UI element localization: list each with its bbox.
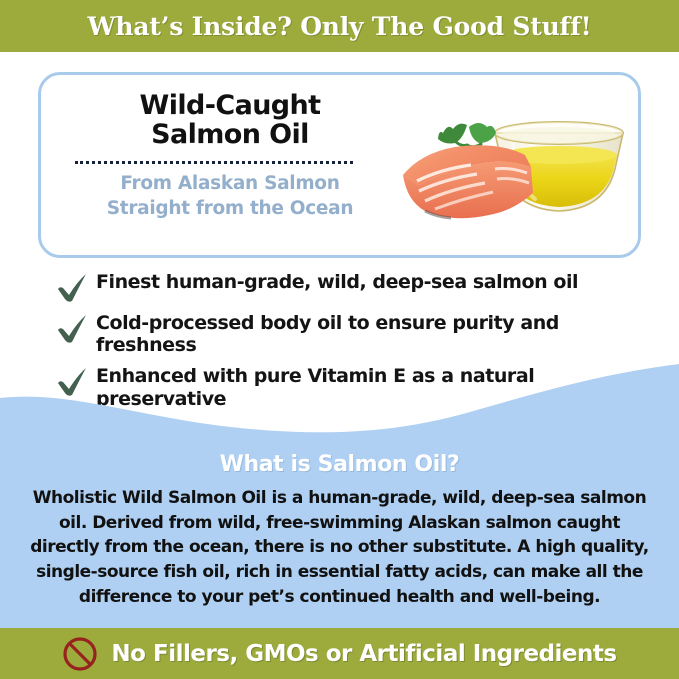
top-banner: What’s Inside? Only The Good Stuff!: [0, 0, 679, 52]
wave-content: What is Salmon Oil? Wholistic Wild Salmo…: [0, 452, 679, 609]
product-card: Wild-Caught Salmon Oil From Alaskan Salm…: [38, 72, 641, 258]
product-card-subtitle: From Alaskan Salmon Straight from the Oc…: [75, 172, 385, 221]
bottom-banner: No Fillers, GMOs or Artificial Ingredien…: [0, 628, 679, 679]
parsley-garnish-icon: [438, 123, 496, 147]
salmon-fillet-icon: [393, 119, 553, 231]
product-card-title: Wild-Caught Salmon Oil: [75, 91, 385, 149]
prohibition-icon: [62, 636, 98, 672]
dotted-divider: [75, 158, 353, 164]
salmon-oil-info-section: What is Salmon Oil? Wholistic Wild Salmo…: [0, 360, 679, 628]
benefit-text: Finest human-grade, wild, deep-sea salmo…: [96, 271, 578, 293]
product-artwork: [393, 93, 631, 243]
section-heading: What is Salmon Oil?: [0, 452, 679, 477]
top-banner-title: What’s Inside? Only The Good Stuff!: [88, 12, 592, 41]
check-icon: [56, 273, 90, 303]
list-item: Cold-processed body oil to ensure purity…: [56, 312, 656, 356]
infographic-page: What’s Inside? Only The Good Stuff! Wild…: [0, 0, 679, 679]
bottom-banner-title: No Fillers, GMOs or Artificial Ingredien…: [111, 641, 616, 667]
product-card-text-column: Wild-Caught Salmon Oil From Alaskan Salm…: [75, 91, 385, 222]
section-paragraph: Wholistic Wild Salmon Oil is a human-gra…: [25, 486, 655, 609]
check-icon: [56, 314, 90, 344]
benefit-text: Cold-processed body oil to ensure purity…: [96, 312, 636, 356]
list-item: Finest human-grade, wild, deep-sea salmo…: [56, 271, 656, 303]
